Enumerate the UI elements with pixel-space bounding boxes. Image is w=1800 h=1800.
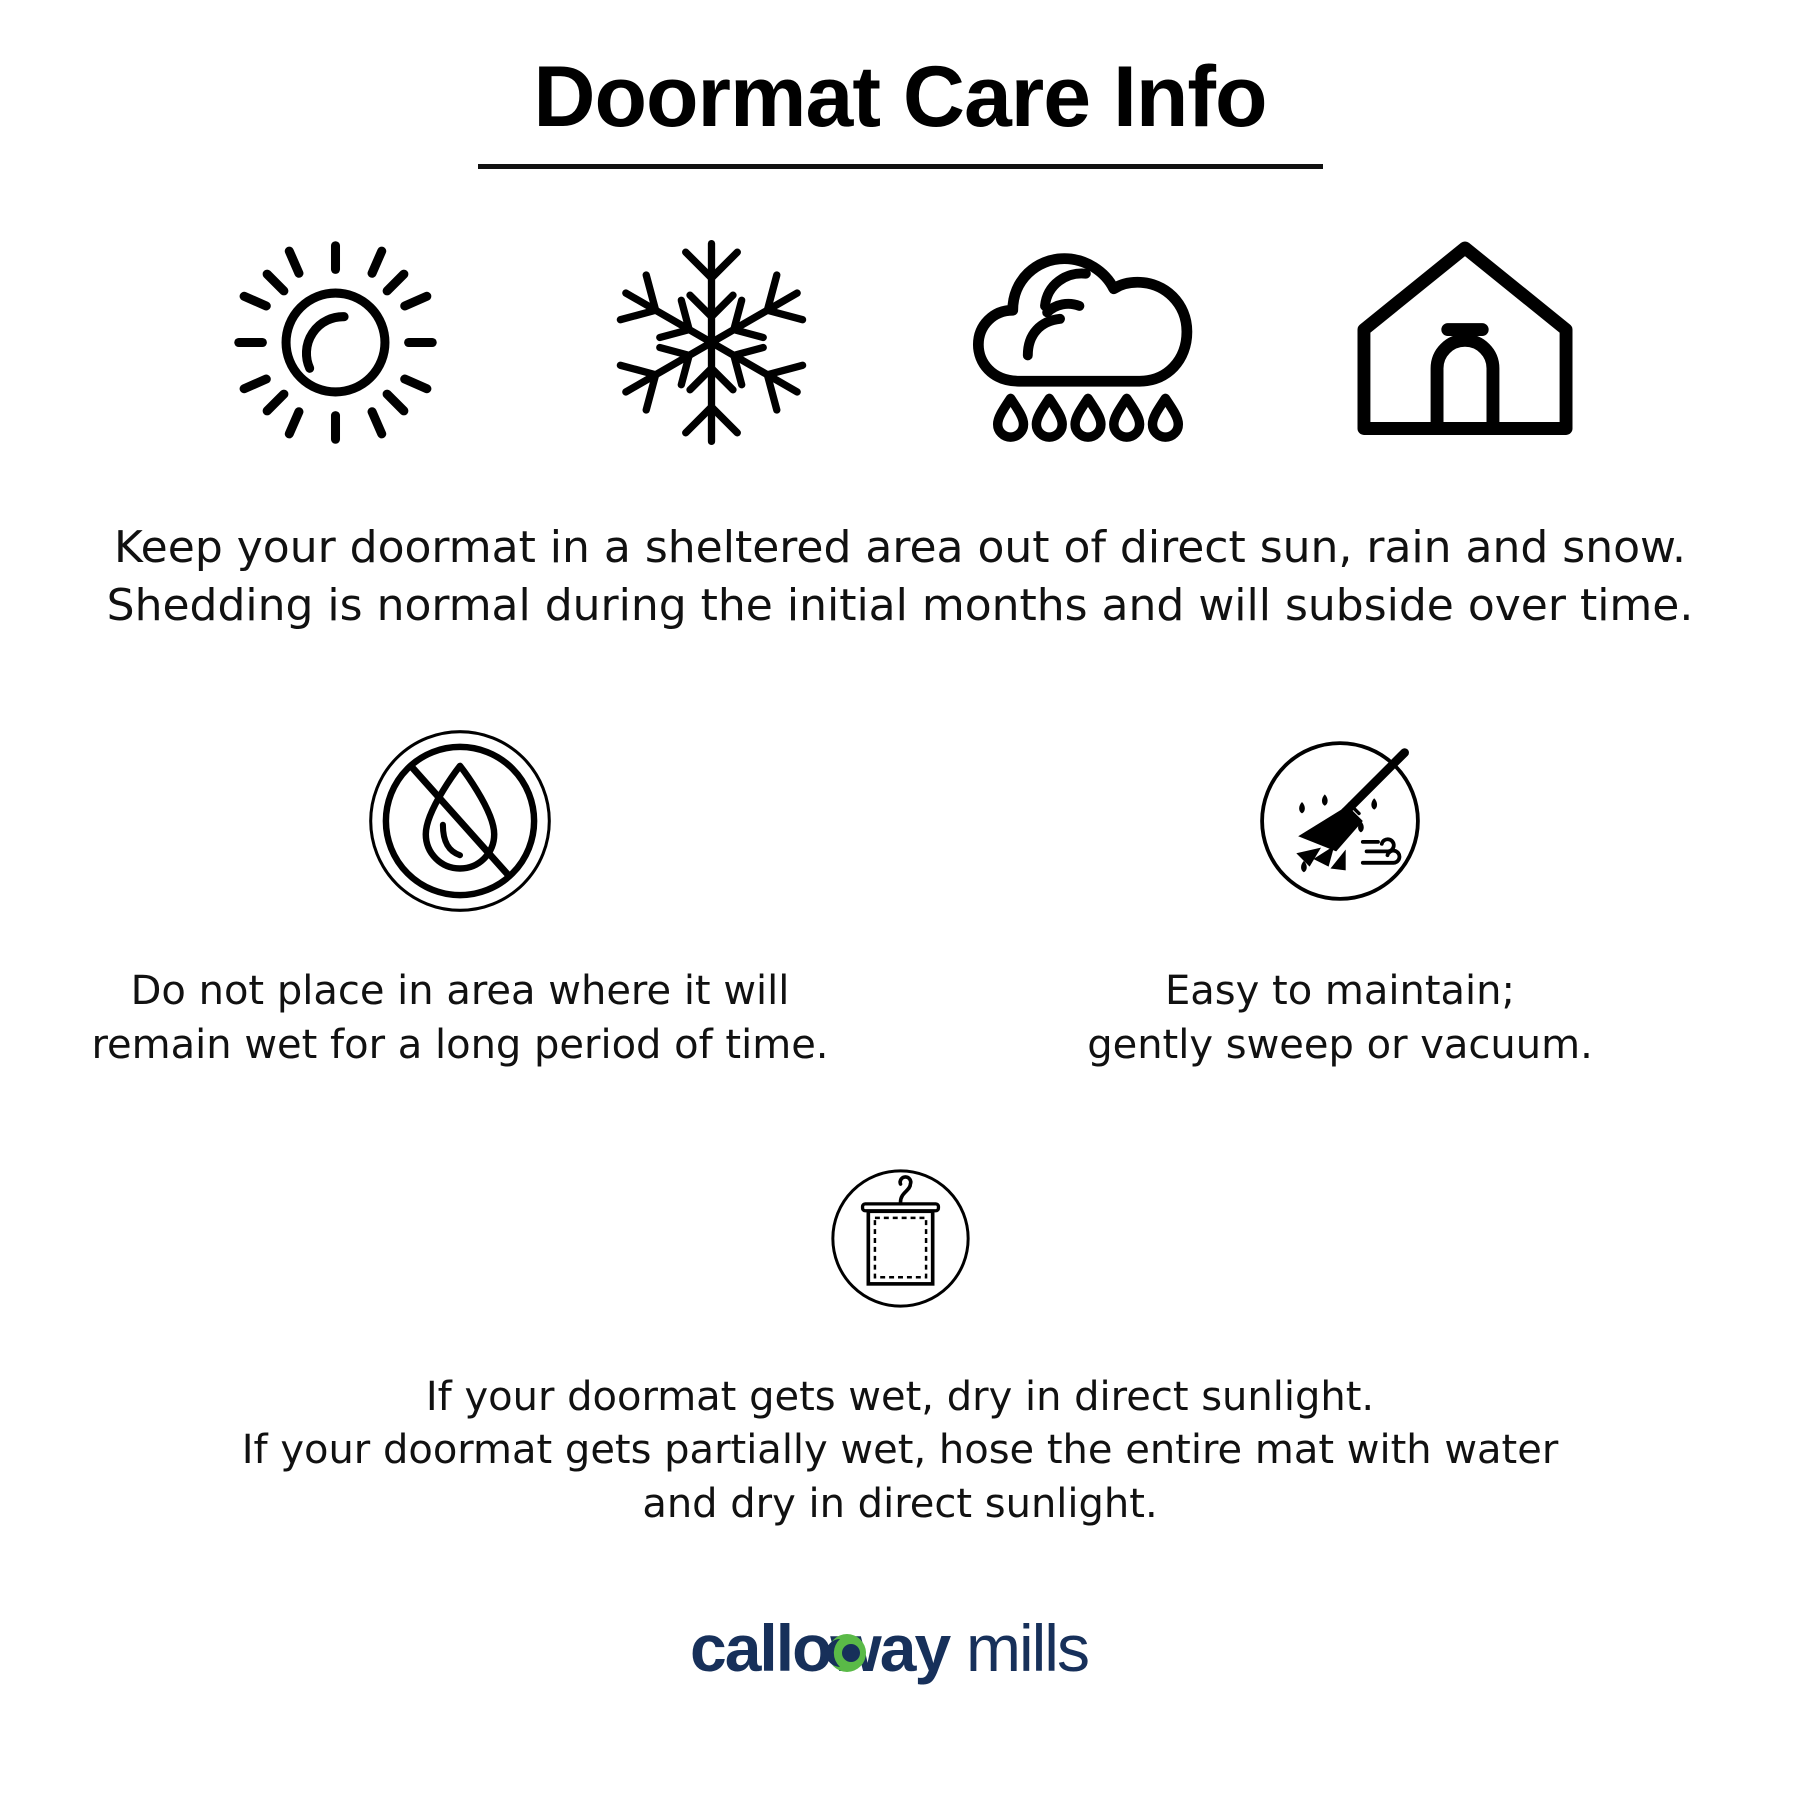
caption-line-1: Easy to maintain; <box>1087 965 1593 1019</box>
house-icon <box>1335 227 1595 457</box>
title-underline <box>478 164 1323 169</box>
logo-wordmark: calloway mills <box>690 1609 1110 1695</box>
caption-line-2: If your doormat gets partially wet, hose… <box>242 1424 1559 1478</box>
no-water-icon <box>365 721 555 921</box>
intro-line-1: Keep your doormat in a sheltered area ou… <box>90 519 1710 577</box>
doormat-care-info-page: Doormat Care Info <box>0 0 1800 1800</box>
caption-line-1: Do not place in area where it will <box>91 965 828 1019</box>
rain-cloud-icon <box>958 227 1218 457</box>
page-header: Doormat Care Info <box>0 52 1800 169</box>
weather-icon-row <box>205 227 1595 457</box>
hang-dry-icon <box>818 1149 983 1329</box>
intro-paragraph: Keep your doormat in a sheltered area ou… <box>90 519 1710 635</box>
care-items-row: Do not place in area where it will remai… <box>80 721 1720 1072</box>
care-item-caption: Easy to maintain; gently sweep or vacuum… <box>1087 965 1593 1072</box>
broom-icon <box>1245 721 1435 921</box>
logo-calloway-text: calloway <box>690 1611 951 1685</box>
calloway-mills-logo: calloway mills <box>690 1609 1110 1695</box>
snowflake-icon <box>582 227 842 457</box>
caption-line-2: remain wet for a long period of time. <box>91 1019 828 1073</box>
caption-line-2: gently sweep or vacuum. <box>1087 1019 1593 1073</box>
logo-inner-dot-icon <box>842 1644 860 1662</box>
intro-line-2: Shedding is normal during the initial mo… <box>90 577 1710 635</box>
hang-dry-caption: If your doormat gets wet, dry in direct … <box>242 1371 1559 1532</box>
care-item-easy-to-maintain: Easy to maintain; gently sweep or vacuum… <box>960 721 1720 1072</box>
caption-line-1: If your doormat gets wet, dry in direct … <box>242 1371 1559 1425</box>
logo-mills-text: mills <box>966 1611 1088 1685</box>
care-item-caption: Do not place in area where it will remai… <box>91 965 828 1072</box>
care-item-no-standing-water: Do not place in area where it will remai… <box>80 721 840 1072</box>
caption-line-3: and dry in direct sunlight. <box>242 1478 1559 1532</box>
page-title: Doormat Care Info <box>0 52 1800 142</box>
care-item-hang-dry: If your doormat gets wet, dry in direct … <box>0 1149 1800 1532</box>
sun-icon <box>205 227 465 457</box>
